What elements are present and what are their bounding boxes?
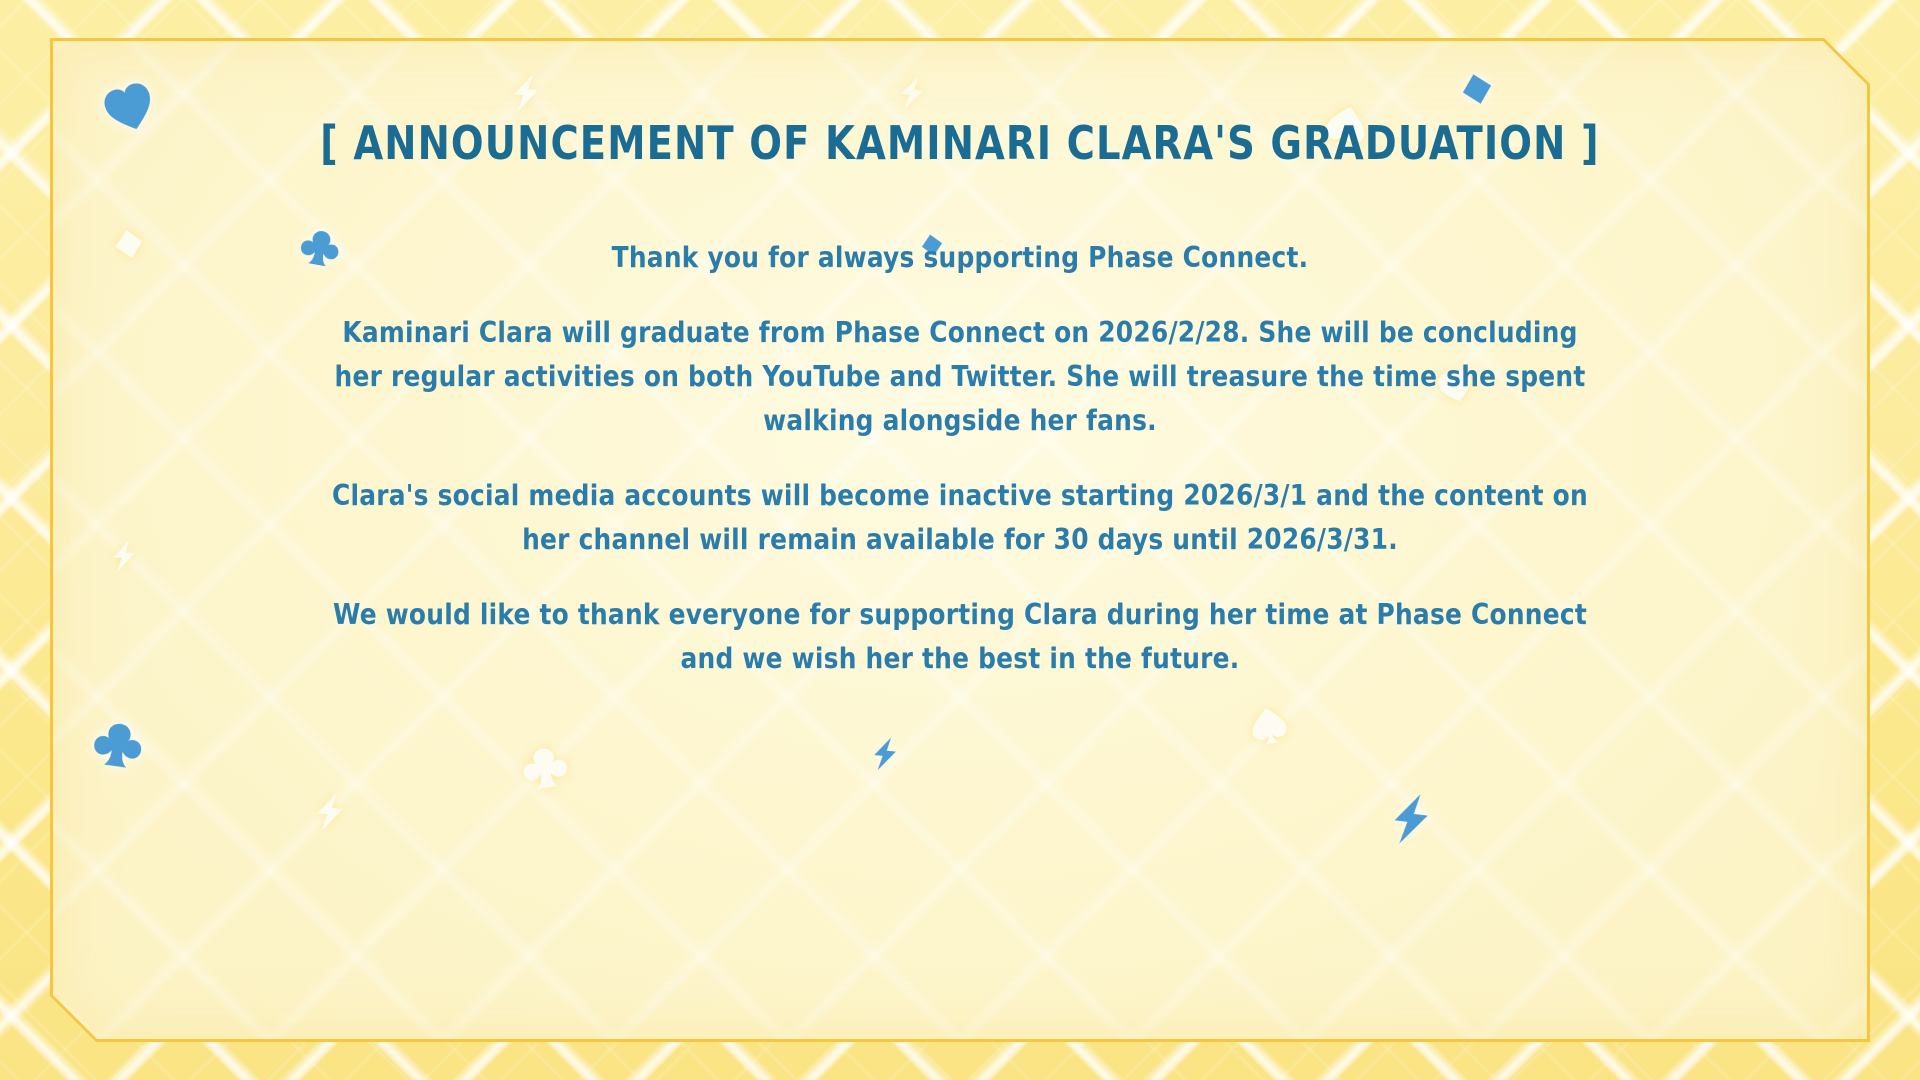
announcement-paragraph: Thank you for always supporting Phase Co… <box>330 236 1591 280</box>
announcement-paragraph: Clara's social media accounts will becom… <box>330 474 1591 562</box>
page-title: [ ANNOUNCEMENT OF KAMINARI CLARA'S GRADU… <box>320 120 1600 166</box>
announcement-body: Thank you for always supporting Phase Co… <box>310 236 1610 681</box>
announcement-paragraph: We would like to thank everyone for supp… <box>330 593 1591 681</box>
announcement-content: [ ANNOUNCEMENT OF KAMINARI CLARA'S GRADU… <box>0 0 1920 1080</box>
announcement-paragraph: Kaminari Clara will graduate from Phase … <box>330 311 1591 443</box>
